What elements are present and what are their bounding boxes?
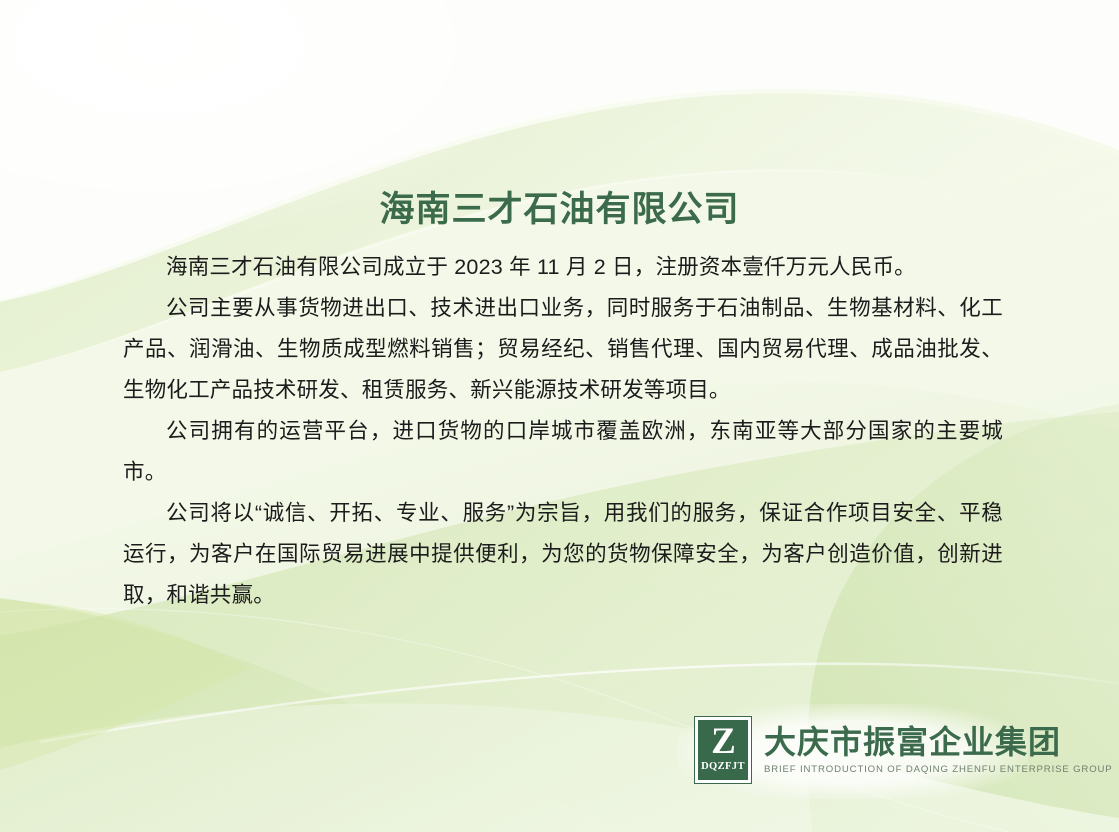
body-text-block: 海南三才石油有限公司成立于 2023 年 11 月 2 日，注册资本壹仟万元人民…: [123, 247, 1003, 616]
logo-tagline-en: BRIEF INTRODUCTION OF DAQING ZHENFU ENTE…: [764, 763, 1113, 777]
page-title: 海南三才石油有限公司: [0, 181, 1119, 232]
logo-letter-z: Z: [711, 722, 735, 762]
paragraph-4: 公司将以“诚信、开拓、专业、服务”为宗旨，用我们的服务，保证合作项目安全、平稳运…: [123, 493, 1003, 616]
logo-company-name-cn: 大庆市振富企业集团: [764, 723, 1113, 761]
slide-canvas: 海南三才石油有限公司 海南三才石油有限公司成立于 2023 年 11 月 2 日…: [0, 0, 1119, 832]
paragraph-3: 公司拥有的运营平台，进口货物的口岸城市覆盖欧洲，东南亚等大部分国家的主要城市。: [123, 411, 1003, 493]
logo-abbreviation: DQZFJT: [701, 761, 745, 773]
logo-mark-icon: Z DQZFJT: [694, 716, 752, 784]
paragraph-2: 公司主要从事货物进出口、技术进出口业务，同时服务于石油制品、生物基材料、化工产品…: [123, 288, 1003, 411]
company-logo: Z DQZFJT 大庆市振富企业集团 BRIEF INTRODUCTION OF…: [694, 716, 1113, 784]
logo-wordmark: 大庆市振富企业集团 BRIEF INTRODUCTION OF DAQING Z…: [764, 723, 1113, 777]
paragraph-1: 海南三才石油有限公司成立于 2023 年 11 月 2 日，注册资本壹仟万元人民…: [123, 247, 1003, 288]
